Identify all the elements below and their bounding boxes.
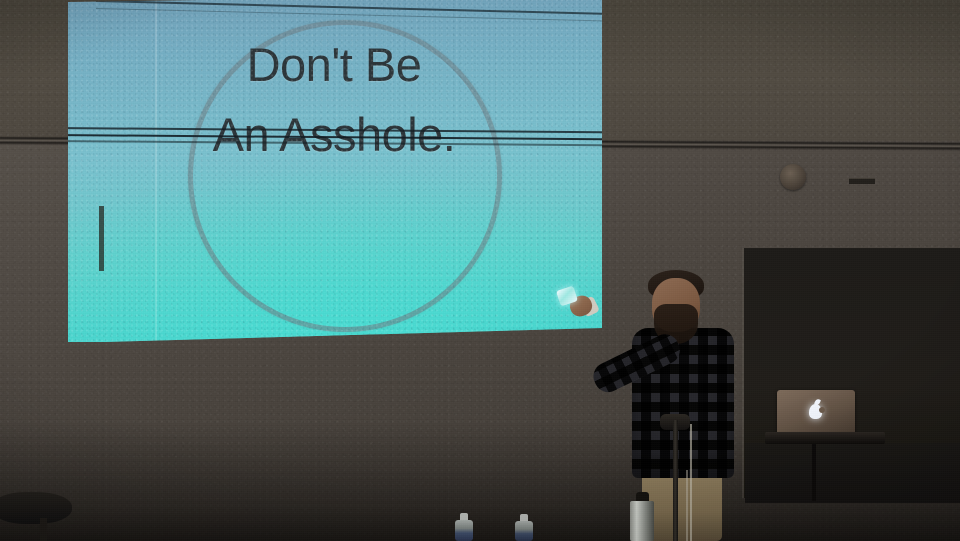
slide-line-1: Don't Be <box>247 38 422 91</box>
projection-screen: Don't Be An Asshole. <box>66 0 602 342</box>
microphone-stand <box>673 420 678 541</box>
chair-back <box>0 492 72 524</box>
macbook-base <box>765 432 885 444</box>
water-bottle <box>515 514 533 541</box>
thermos-body <box>630 501 654 541</box>
equipment-table-leg <box>812 443 816 501</box>
bottle-body <box>515 521 533 541</box>
presenter-leg-separation <box>99 206 104 271</box>
wall-vent-slot <box>849 178 875 184</box>
bottle-body <box>455 520 473 541</box>
insulated-thermos <box>630 492 654 541</box>
round-wall-speaker-icon <box>780 164 806 190</box>
slide-text-block: Don't Be An Asshole. <box>66 30 602 170</box>
equipment-table <box>745 443 960 503</box>
chair-post <box>40 518 47 541</box>
water-bottle <box>455 513 473 541</box>
photo-canvas: Don't Be An Asshole. <box>0 0 960 541</box>
apple-logo-bite <box>819 407 825 413</box>
screen-top-edge-line <box>96 0 602 15</box>
